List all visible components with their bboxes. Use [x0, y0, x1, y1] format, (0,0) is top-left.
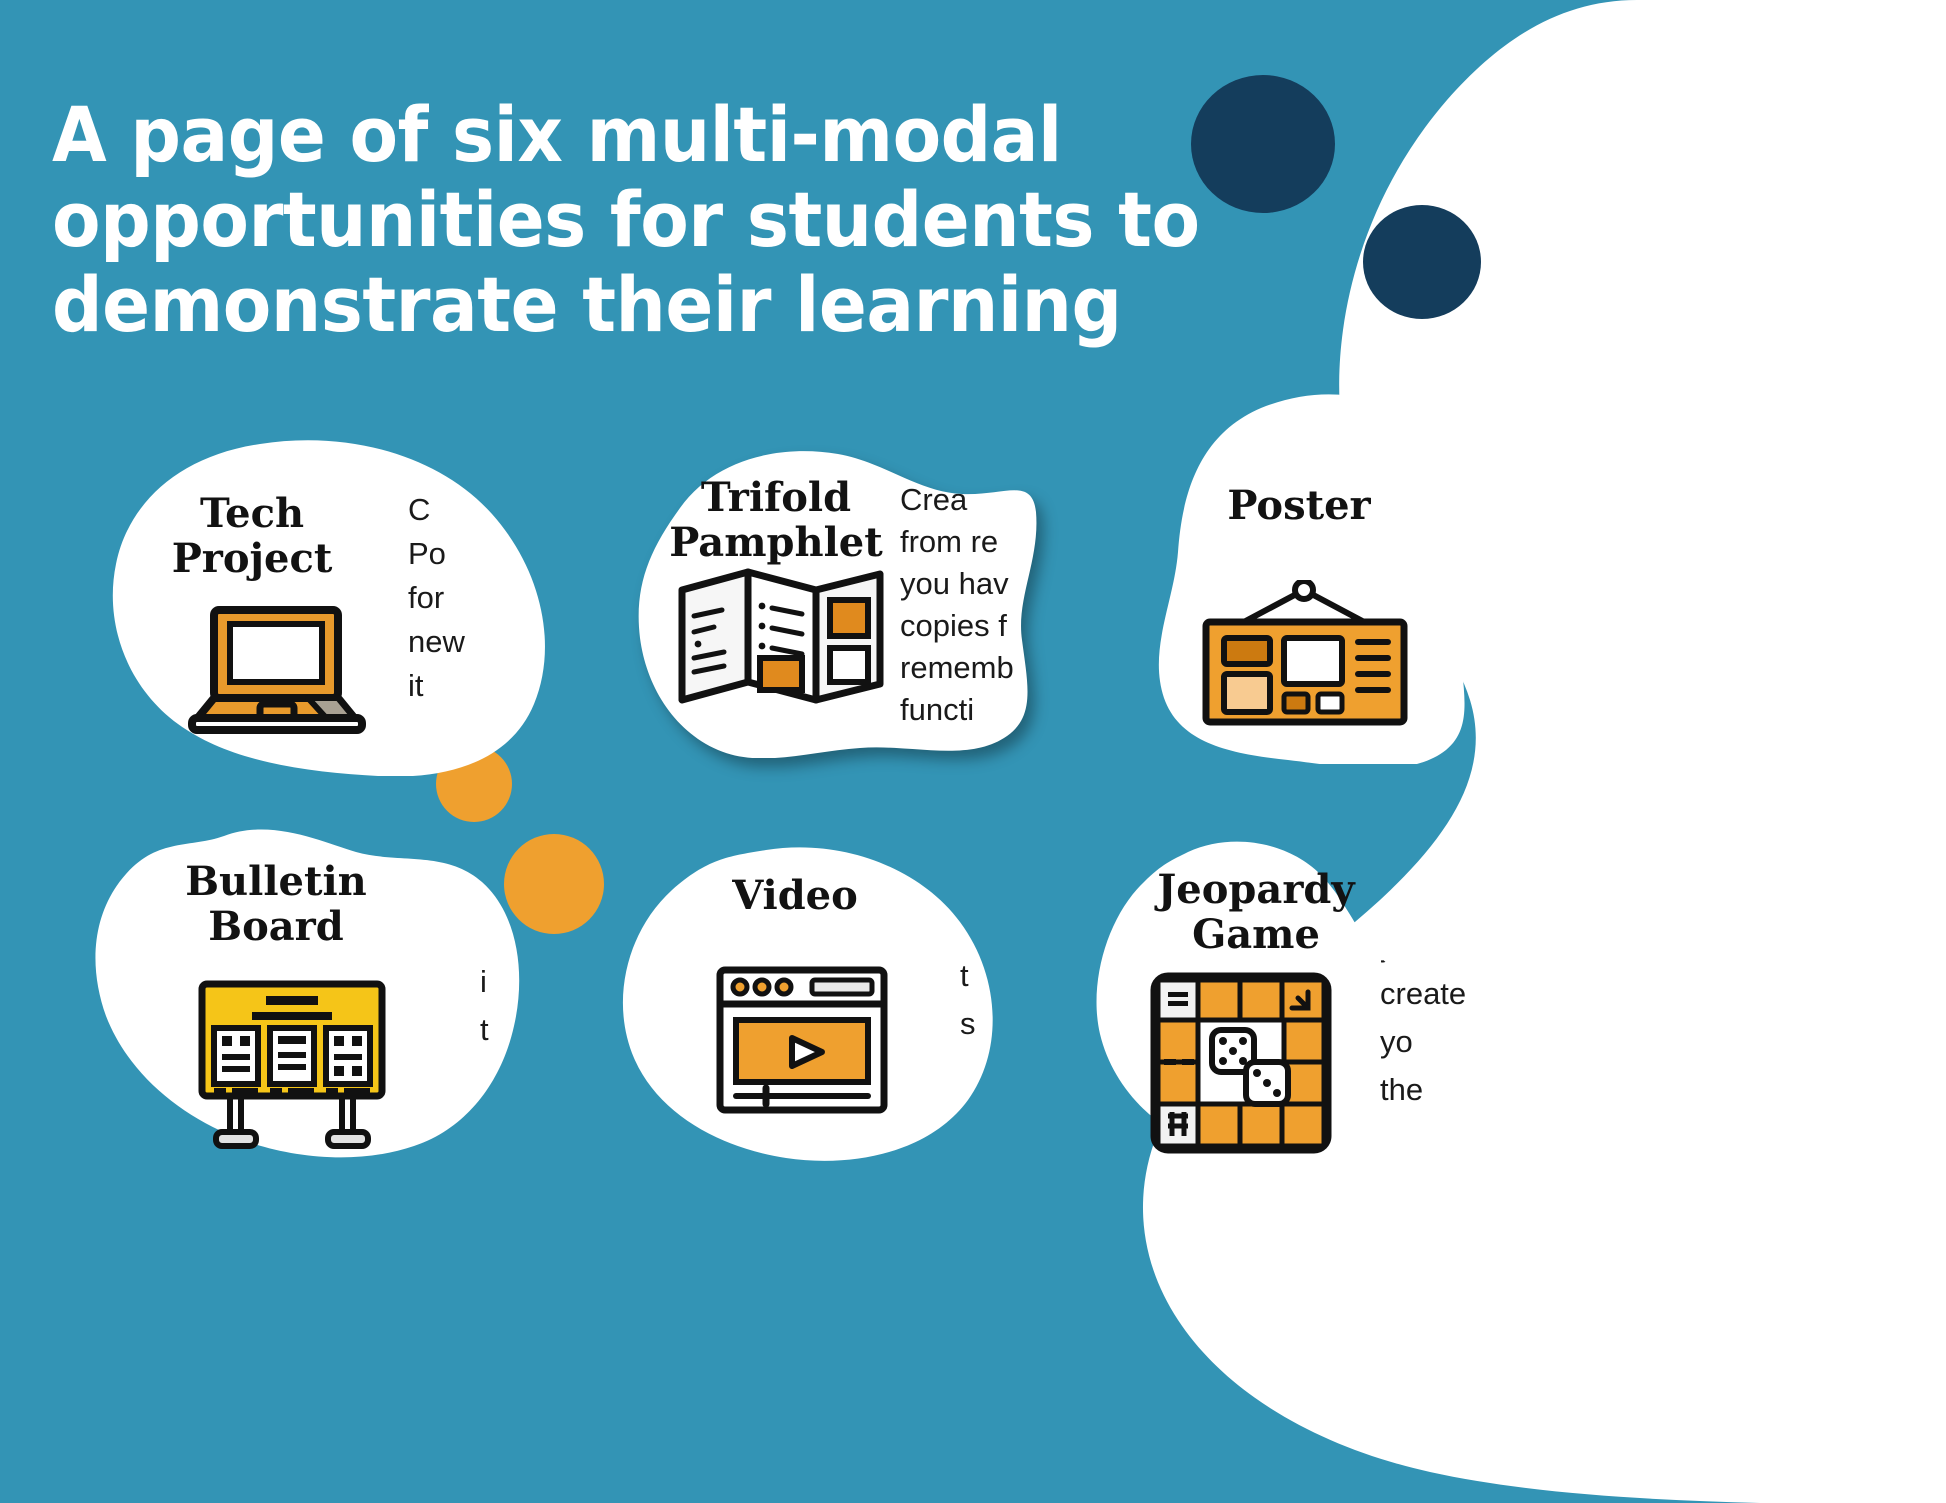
tech-project-title: Tech Project [132, 492, 372, 582]
card-bulletin-board[interactable]: i t Bulletin Board [86, 828, 526, 1168]
bulletin-board-icon [194, 974, 390, 1154]
trifold-pamphlet-icon [676, 566, 886, 706]
page-title-line-3: demonstrate their learning [52, 262, 1131, 347]
jeopardy-game-title: Jeopardy Game [1126, 868, 1386, 958]
card-video[interactable]: t s Video [616, 846, 1006, 1162]
navy-circle-small [1363, 205, 1481, 319]
card-trifold-pamphlet[interactable]: Crea from re you hav copies f rememb fun… [618, 448, 1038, 758]
bulletin-board-title: Bulletin Board [148, 860, 404, 950]
laptop-icon [188, 600, 366, 736]
card-tech-project[interactable]: C Po for new it Tech Project [110, 436, 570, 776]
poster-title: Poster [1174, 484, 1424, 529]
board-game-icon [1148, 970, 1334, 1156]
card-poster[interactable]: a Poster [1140, 392, 1560, 764]
trifold-pamphlet-title: Trifold Pamphlet [656, 476, 896, 566]
infographic-canvas: A page of six multi-modal opportunities … [0, 0, 1946, 1503]
video-title: Video [682, 874, 908, 919]
navy-circle-large [1191, 75, 1335, 213]
page-title: A page of six multi-modal opportunities … [52, 92, 1131, 347]
poster-body-text: a [1476, 626, 1494, 661]
page-title-line-2: opportunities for students to [52, 177, 1131, 262]
card-jeopardy-game[interactable]: your r create yo the Jeopardy Game [1082, 840, 1542, 1180]
poster-icon [1192, 580, 1418, 728]
video-player-icon [714, 964, 890, 1116]
page-title-line-1: A page of six multi-modal [52, 92, 1131, 177]
